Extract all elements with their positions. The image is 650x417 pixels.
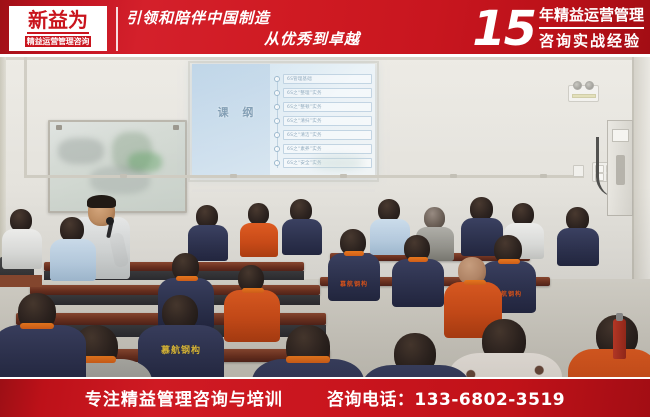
logo-main-text: 新益为 <box>27 10 89 34</box>
list-item: 6S之“清洁”实务 <box>274 128 372 141</box>
bullet-circle-icon <box>274 160 280 166</box>
attendee-body <box>362 365 470 377</box>
bullet-circle-icon <box>274 146 280 152</box>
lanyard <box>408 257 428 262</box>
conduit-clip <box>540 174 547 178</box>
outline-item-label: 6S管理基础 <box>283 74 372 84</box>
slide-title-panel <box>192 64 270 177</box>
company-logo: 新益为 精益运营管理咨询 <box>9 6 107 51</box>
uniform-text: 慕航钢构 <box>138 343 224 356</box>
lanyard <box>464 280 486 285</box>
whiteboard-clip <box>56 125 62 130</box>
whiteboard-clip <box>173 125 179 130</box>
outline-item-label: 6S之“整理”实务 <box>283 88 372 98</box>
lanyard <box>498 259 520 264</box>
list-item: 6S管理基础 <box>274 72 372 85</box>
conduit-clip <box>120 174 127 178</box>
list-item: 6S之“素养”实务 <box>274 142 372 155</box>
attendee-body: 慕航钢构 <box>252 359 364 377</box>
fire-extinguisher-icon <box>613 319 626 359</box>
header-divider <box>116 7 118 51</box>
whiteboard <box>48 120 187 213</box>
attendee-body <box>0 325 86 377</box>
attendee-head <box>424 207 445 229</box>
outline-item-label: 6S之“清扫”实务 <box>283 116 372 126</box>
experience-text: 年精益运营管理 咨询实战经验 <box>539 5 644 52</box>
footer-tagline: 专注精益管理咨询与培训 <box>85 385 283 410</box>
lanyard <box>176 276 198 281</box>
right-wall-pillar <box>634 57 650 292</box>
attendee-body <box>282 219 322 255</box>
training-scene-photo: 课 纲 6S管理基础 6S之“整理”实务 6S之“整顿”实务 6S之“清扫 <box>0 57 650 377</box>
attendee-body <box>448 353 562 377</box>
emergency-lamp <box>573 81 582 90</box>
panel-meter <box>612 129 629 142</box>
lanyard <box>344 251 364 256</box>
bullet-circle-icon <box>274 118 280 124</box>
training-photo-banner: 新益为 精益运营管理咨询 引领和陪伴中国制造 从优秀到卓越 15 年精益运营管理… <box>0 0 650 417</box>
bullet-circle-icon <box>274 132 280 138</box>
experience-years-number: 15 <box>472 5 535 53</box>
wall-conduit-vertical <box>24 57 27 177</box>
side-desk-edge <box>0 275 42 287</box>
outline-item-label: 6S之“整顿”实务 <box>283 102 372 112</box>
wall-conduit-horizontal <box>24 175 584 178</box>
projector-glare <box>312 156 364 170</box>
emergency-light-icon <box>568 85 599 102</box>
footer-banner: 专注精益管理咨询与培训 咨询电话：133-6802-3519 <box>0 377 650 417</box>
outline-item-label: 6S之“素养”实务 <box>283 144 372 154</box>
attendee-body <box>240 223 278 257</box>
wall-switch <box>573 165 584 177</box>
lanyard <box>242 288 264 293</box>
list-item: 6S之“整顿”实务 <box>274 100 372 113</box>
header-banner: 新益为 精益运营管理咨询 引领和陪伴中国制造 从优秀到卓越 15 年精益运营管理… <box>0 0 650 57</box>
emergency-light-label <box>572 94 596 98</box>
footer-phone: 咨询电话：133-6802-3519 <box>327 385 565 410</box>
conduit-clip <box>340 174 347 178</box>
uniform-text: 慕航钢构 <box>328 279 380 288</box>
whiteboard-smudge <box>58 138 104 164</box>
attendee-head <box>248 203 269 225</box>
attendee-body: 慕航钢构 <box>328 253 380 301</box>
list-item: 6S之“整理”实务 <box>274 86 372 99</box>
header-experience-badge: 15 年精益运营管理 咨询实战经验 <box>472 2 644 55</box>
lanyard <box>20 323 54 329</box>
conduit-clip <box>230 174 237 178</box>
logo-sub-text: 精益运营管理咨询 <box>25 36 91 47</box>
microphone-head <box>106 217 114 225</box>
attendee-body <box>224 290 280 342</box>
experience-line-1: 年精益运营管理 <box>539 5 644 29</box>
attendee-body: 慕航钢构 <box>138 325 224 377</box>
ceiling-edge <box>0 57 650 60</box>
header-slogan: 引领和陪伴中国制造 从优秀到卓越 <box>126 8 376 52</box>
attendee-body: 慕航钢构 <box>568 349 650 377</box>
emergency-lamp <box>585 81 594 90</box>
slogan-line-1: 引领和陪伴中国制造 <box>126 8 376 29</box>
slide-title: 课 纲 <box>208 104 268 120</box>
slogan-line-2: 从优秀到卓越 <box>126 29 376 50</box>
projection-screen: 课 纲 6S管理基础 6S之“整理”实务 6S之“整顿”实务 6S之“清扫 <box>192 64 375 177</box>
bullet-circle-icon <box>274 76 280 82</box>
whiteboard-smudge <box>90 166 150 194</box>
attendee-body <box>2 229 42 269</box>
bullet-circle-icon <box>274 104 280 110</box>
panel-handle <box>616 155 625 185</box>
lanyard <box>286 356 330 363</box>
list-item: 6S之“清扫”实务 <box>274 114 372 127</box>
conduit-clip <box>450 174 457 178</box>
outline-item-label: 6S之“清洁”实务 <box>283 130 372 140</box>
attendee-body <box>557 228 599 266</box>
bullet-circle-icon <box>274 90 280 96</box>
lecturer-hair <box>87 195 116 208</box>
electrical-panel <box>607 120 633 216</box>
experience-line-2: 咨询实战经验 <box>539 29 644 52</box>
attendee-body <box>50 239 96 281</box>
attendee-body <box>392 259 444 307</box>
